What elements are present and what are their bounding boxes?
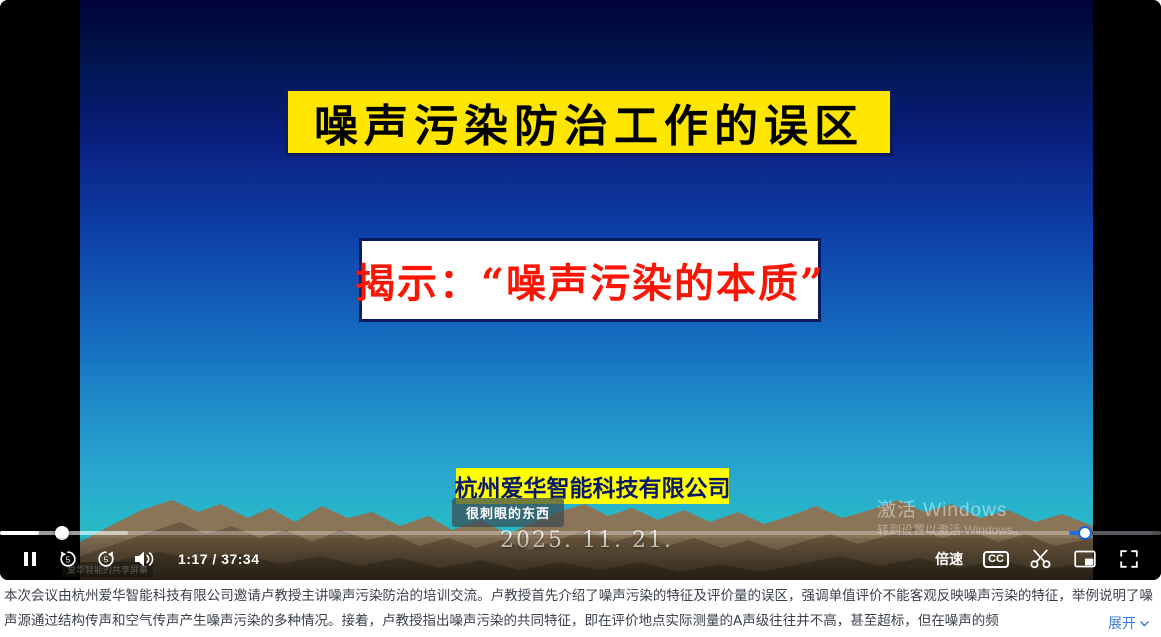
forward-5-button[interactable]: 5 (94, 547, 118, 571)
fullscreen-button[interactable] (1117, 547, 1141, 571)
presentation-slide: 噪声污染防治工作的误区 揭示：“噪声污染的本质” 杭州爱华智能科技有限公司 20… (80, 0, 1093, 580)
volume-slider[interactable] (1069, 529, 1153, 537)
progress-track[interactable] (0, 531, 1161, 535)
slide-subtitle-box: 揭示：“噪声污染的本质” (359, 238, 821, 322)
forward-5-icon: 5 (95, 548, 117, 570)
player-control-bar: 5 5 1:17 / 3 (0, 538, 1161, 580)
clip-button[interactable] (1029, 547, 1053, 571)
expand-summary-label: 展开 (1108, 613, 1136, 633)
danmaku-comment: 很刺眼的东西 (452, 498, 564, 527)
volume-button[interactable] (132, 547, 156, 571)
chevron-down-icon (1138, 617, 1151, 630)
progress-bar[interactable] (0, 529, 1161, 537)
playback-speed-button[interactable]: 倍速 (935, 549, 963, 569)
picture-in-picture-button[interactable] (1073, 547, 1097, 571)
pause-button[interactable] (18, 547, 42, 571)
time-display: 1:17 / 37:34 (178, 551, 260, 567)
rewind-5-button[interactable]: 5 (56, 547, 80, 571)
scissors-icon (1030, 549, 1052, 569)
fullscreen-icon (1119, 549, 1139, 569)
player-controls-right: 倍速 CC (935, 547, 1161, 571)
volume-icon (133, 549, 155, 569)
video-page: 噪声污染防治工作的误区 揭示：“噪声污染的本质” 杭州爱华智能科技有限公司 20… (0, 0, 1161, 637)
picture-in-picture-icon (1074, 550, 1096, 568)
rewind-5-icon: 5 (57, 548, 79, 570)
slide-title: 噪声污染防治工作的误区 (314, 90, 864, 154)
video-player[interactable]: 噪声污染防治工作的误区 揭示：“噪声污染的本质” 杭州爱华智能科技有限公司 20… (0, 0, 1161, 580)
meeting-summary: 本次会议由杭州爱华智能科技有限公司邀请卢教授主讲噪声污染防治的培训交流。卢教授首… (0, 584, 1161, 637)
svg-text:5: 5 (104, 555, 109, 564)
player-controls-left: 5 5 1:17 / 3 (0, 547, 260, 571)
svg-text:5: 5 (66, 555, 71, 564)
expand-summary-button[interactable]: 展开 (1108, 613, 1151, 633)
pause-icon (21, 550, 39, 568)
slide-title-box: 噪声污染防治工作的误区 (285, 88, 893, 156)
captions-button[interactable]: CC (983, 551, 1009, 568)
summary-text: 本次会议由杭州爱华智能科技有限公司邀请卢教授主讲噪声污染防治的培训交流。卢教授首… (0, 584, 1161, 634)
slide-subtitle: 揭示：“噪声污染的本质” (355, 251, 825, 309)
progress-played (0, 531, 39, 535)
